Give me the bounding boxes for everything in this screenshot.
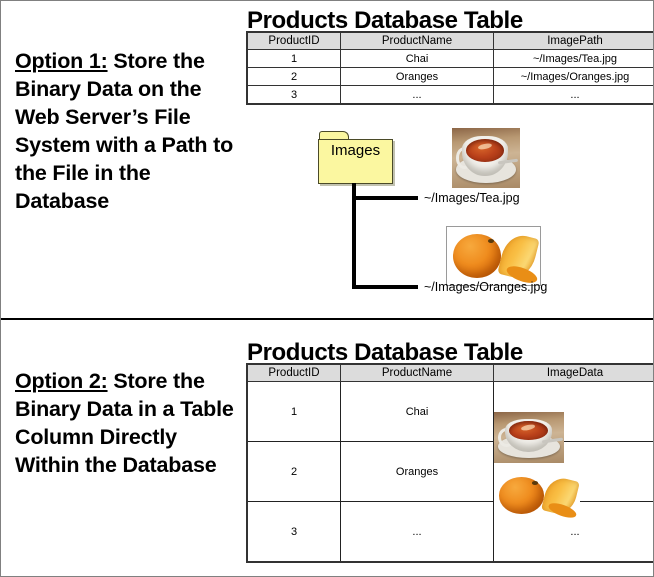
cell-imagedata xyxy=(494,382,654,442)
tea-liquid-shape xyxy=(509,421,548,440)
tea-liquid-shape xyxy=(466,139,504,162)
column-header-productname: ProductName xyxy=(341,364,494,382)
option-1-panel: Option 1: Store the Binary Data on the W… xyxy=(1,1,654,318)
option-1-table-header: ProductID ProductName ImagePath xyxy=(247,32,654,50)
cell-productname: Chai xyxy=(341,382,494,442)
folder-label: Images xyxy=(318,142,393,159)
table-row: 3 ... ... xyxy=(247,502,654,563)
table-row: 2 Oranges xyxy=(247,442,654,502)
cell-productid: 1 xyxy=(247,50,341,68)
option-2-table-header: ProductID ProductName ImageData xyxy=(247,364,654,382)
option-2-lead: Option 2: xyxy=(15,369,108,393)
table-row: 1 Chai ~/Images/Tea.jpg xyxy=(247,50,654,68)
table-row: 1 Chai xyxy=(247,382,654,442)
tree-connector-branch-oranges xyxy=(352,285,418,289)
column-header-imagepath: ImagePath xyxy=(494,32,654,50)
cell-productid: 2 xyxy=(247,68,341,86)
cell-productid: 3 xyxy=(247,502,341,563)
cell-imagepath: ... xyxy=(494,86,654,105)
cell-productname: ... xyxy=(341,502,494,563)
cell-imagepath: ~/Images/Oranges.jpg xyxy=(494,68,654,86)
option-1-description: Option 1: Store the Binary Data on the W… xyxy=(15,48,237,216)
table-row: 2 Oranges ~/Images/Oranges.jpg xyxy=(247,68,654,86)
option-2-description: Option 2: Store the Binary Data in a Tab… xyxy=(15,368,237,480)
column-header-productid: ProductID xyxy=(247,32,341,50)
column-header-productname: ProductName xyxy=(341,32,494,50)
table-header-row: ProductID ProductName ImageData xyxy=(247,364,654,382)
table-header-row: ProductID ProductName ImagePath xyxy=(247,32,654,50)
tea-cup-photo xyxy=(494,412,564,463)
option-1-lead: Option 1: xyxy=(15,49,108,73)
cell-productid: 2 xyxy=(247,442,341,502)
cell-productname: Oranges xyxy=(341,68,494,86)
column-header-productid: ProductID xyxy=(247,364,341,382)
tea-cup-thumbnail xyxy=(452,128,520,188)
orange-fruit-photo xyxy=(494,472,580,520)
option-1-products-table: ProductID ProductName ImagePath 1 Chai ~… xyxy=(246,31,654,105)
table-row: 3 ... ... xyxy=(247,86,654,105)
cell-productname: Chai xyxy=(341,50,494,68)
cell-productname: Oranges xyxy=(341,442,494,502)
cell-productname: ... xyxy=(341,86,494,105)
orange-thumbnail xyxy=(494,472,580,520)
tea-cup-thumbnail xyxy=(494,412,564,463)
file-path-oranges: ~/Images/Oranges.jpg xyxy=(424,280,547,294)
tree-connector-branch-tea xyxy=(352,196,418,200)
option-1-table-body: 1 Chai ~/Images/Tea.jpg 2 Oranges ~/Imag… xyxy=(247,50,654,105)
cell-imagepath: ~/Images/Tea.jpg xyxy=(494,50,654,68)
file-path-tea: ~/Images/Tea.jpg xyxy=(424,191,520,205)
option-2-products-table: ProductID ProductName ImageData 1 Chai xyxy=(246,363,654,563)
orange-fruit-photo xyxy=(447,227,540,285)
orange-navel-shape xyxy=(532,481,538,485)
orange-thumbnail xyxy=(446,226,541,286)
option-2-table-body: 1 Chai 2 xyxy=(247,382,654,563)
option-1-body: Store the Binary Data on the Web Server’… xyxy=(15,49,233,213)
diagram-canvas: Option 1: Store the Binary Data on the W… xyxy=(0,0,654,577)
cell-productid: 1 xyxy=(247,382,341,442)
cell-productid: 3 xyxy=(247,86,341,105)
tea-cup-photo xyxy=(452,128,520,188)
folder-icon: Images xyxy=(318,131,393,184)
column-header-imagedata: ImageData xyxy=(494,364,654,382)
